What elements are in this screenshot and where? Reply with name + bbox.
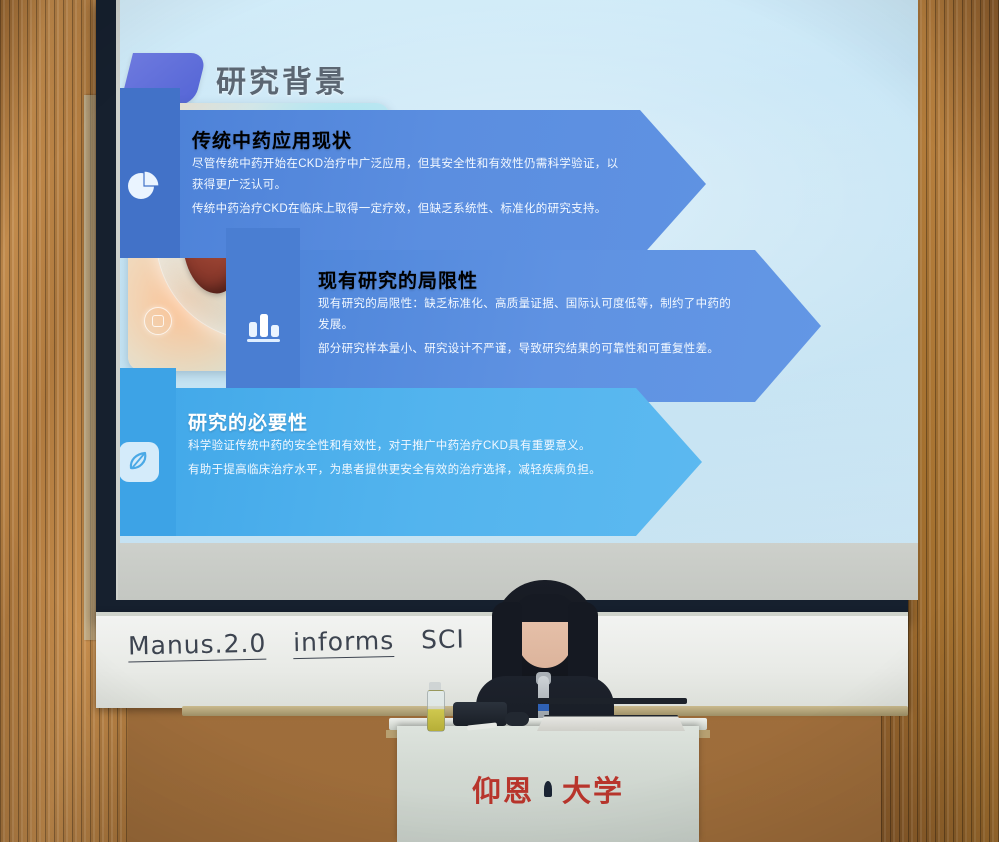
chevron-notch-2 [226,228,300,250]
block-3-title: 研究的必要性 [188,408,622,435]
university-name-right: 大学 [562,768,624,810]
whiteboard-note-part-1: Manus.2.0 [128,629,267,663]
laptop-bag [453,702,507,726]
university-logo-row: 仰恩 大学 [397,768,699,810]
block-2-paragraph-2: 部分研究样本量小、研究设计不严谨，导致研究结果的可靠性和可重复性差。 [318,339,741,360]
block-2-paragraph-1: 现有研究的局限性：缺乏标准化、高质量证据、国际认可度低等，制约了中药的发展。 [318,294,741,336]
leaf-icon [126,449,152,475]
water-bottle [427,690,445,732]
university-name-left: 仰恩 [472,768,534,810]
pie-chart-icon [124,165,162,203]
block-3-paragraph-2: 有助于提高临床治疗水平，为患者提供更安全有效的治疗选择，减轻疾病负担。 [188,460,622,481]
laptop [537,715,685,731]
hair-fringe [514,594,576,622]
laptop-lid [537,698,687,704]
page-title: 研究背景 [216,57,348,101]
content-block-2: 现有研究的局限性 现有研究的局限性：缺乏标准化、高质量证据、国际认可度低等，制约… [226,250,821,402]
chevron-notch-1 [120,88,180,110]
content-block-3: 研究的必要性 科学验证传统中药的安全性和有效性，对于推广中药治疗CKD具有重要意… [120,388,702,536]
hud-icon-cross [144,307,172,335]
icon-tab-3 [120,388,176,536]
icon-tab-1 [120,110,180,258]
content-block-1: 传统中药应用现状 尽管传统中药开始在CKD治疗中广泛应用，但其安全性和有效性仍需… [120,110,706,258]
block-3-paragraph-1: 科学验证传统中药的安全性和有效性，对于推广中药治疗CKD具有重要意义。 [188,436,622,457]
presentation-slide: 研究背景 [120,0,918,543]
block-1-paragraph-1: 尽管传统中药开始在CKD治疗中广泛应用，但其安全性和有效性仍需科学验证，以获得更… [192,154,626,196]
whiteboard-note-part-2: informs [293,626,395,659]
podium: 仰恩 大学 [397,726,699,842]
lecture-hall-scene: 研究背景 [0,0,999,842]
icon-tab-2 [226,250,300,402]
block-1-title: 传统中药应用现状 [192,126,626,153]
leaf-icon-container [120,442,159,482]
whiteboard-handwriting: Manus.2.0 informs SCI [128,624,465,660]
bar-chart-icon [243,306,283,346]
block-2-title: 现有研究的局限性 [318,266,741,293]
block-1-paragraph-2: 传统中药治疗CKD在临床上取得一定疗效，但缺乏系统性、标准化的研究支持。 [192,199,626,220]
whiteboard-note-part-3: SCI [421,624,465,654]
computer-mouse [505,712,529,726]
chevron-notch-3 [120,368,176,388]
